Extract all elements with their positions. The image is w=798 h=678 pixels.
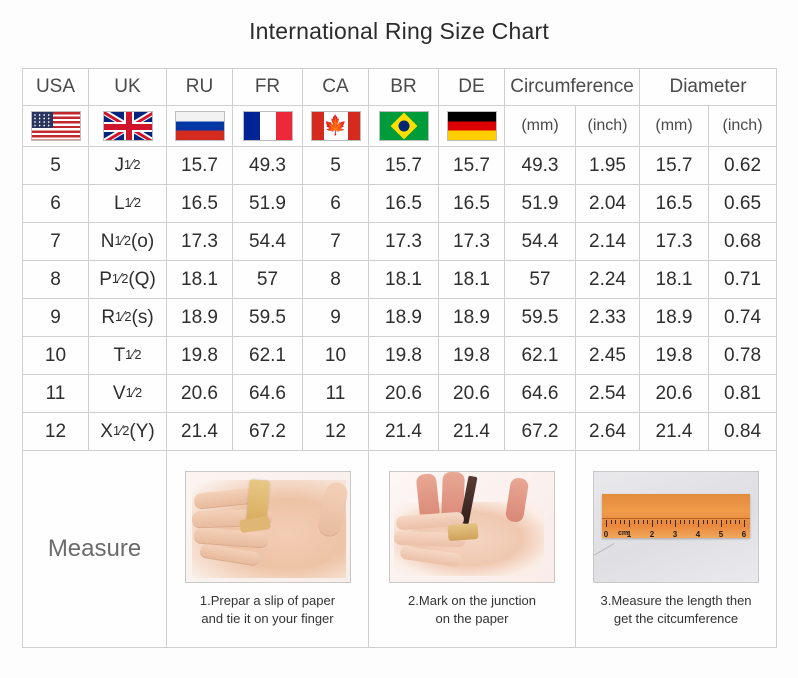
ruler-tick — [721, 520, 722, 527]
table-row: 12X1⁄2(Y)21.467.21221.421.467.22.6421.40… — [23, 413, 777, 451]
uk-fraction: 1⁄2 — [113, 423, 129, 439]
uk-letter: P — [99, 269, 112, 290]
cell-circ_mm: 49.3 — [505, 147, 576, 185]
ru-flag-icon — [175, 111, 225, 141]
cell-usa: 6 — [23, 185, 89, 223]
cell-circ_mm: 51.9 — [505, 185, 576, 223]
flag-cell-br — [369, 106, 439, 147]
cell-fr: 54.4 — [233, 223, 303, 261]
cell-dia_in: 0.81 — [709, 375, 777, 413]
flag-cell-fr — [233, 106, 303, 147]
uk-letter: J — [115, 155, 125, 176]
cell-uk: X1⁄2(Y) — [89, 413, 167, 451]
uk-fraction: 1⁄2 — [115, 233, 131, 249]
uk-letter: L — [114, 193, 125, 214]
uk-letter: N — [101, 231, 115, 252]
ruler-tick-minor — [680, 520, 681, 524]
cell-dia_in: 0.68 — [709, 223, 777, 261]
uk-suffix: (o) — [131, 231, 154, 252]
cell-br: 19.8 — [369, 337, 439, 375]
cell-ru: 20.6 — [167, 375, 233, 413]
uk-suffix: (s) — [132, 307, 154, 328]
cell-circ_in: 2.54 — [576, 375, 640, 413]
cell-dia_mm: 19.8 — [640, 337, 709, 375]
col-header-fr: FR — [233, 69, 303, 106]
cell-ca: 6 — [303, 185, 369, 223]
cell-fr: 49.3 — [233, 147, 303, 185]
page-title: International Ring Size Chart — [0, 18, 798, 45]
flag-cell-uk — [89, 106, 167, 147]
cell-fr: 64.6 — [233, 375, 303, 413]
ruler-tick — [629, 520, 630, 527]
col-header-de: DE — [439, 69, 505, 106]
cell-ca: 8 — [303, 261, 369, 299]
ruler-tick-label: 5 — [719, 530, 723, 539]
unit-header-circ-mm: (mm) — [505, 106, 576, 147]
caption-line-1: 2.Mark on the junction — [408, 592, 536, 610]
cell-de: 15.7 — [439, 147, 505, 185]
marking-junction-photo — [389, 471, 555, 583]
ruler-tick-minor — [634, 520, 635, 524]
caption-line-1: 3.Measure the length then — [600, 592, 751, 610]
table-row: 7N1⁄2(o)17.354.4717.317.354.42.1417.30.6… — [23, 223, 777, 261]
measure-label: Measure — [23, 451, 167, 648]
ruler-unit-label: cm — [618, 530, 628, 537]
ruler-tick-minor — [657, 520, 658, 524]
ruler-tick-minor — [643, 520, 644, 524]
header-row-codes: USA UK RU FR CA BR DE Circumference Diam… — [23, 69, 777, 106]
cell-usa: 12 — [23, 413, 89, 451]
ring-size-chart-page: International Ring Size Chart USA UK RU … — [0, 0, 798, 678]
flag-cell-usa — [23, 106, 89, 147]
cell-fr: 59.5 — [233, 299, 303, 337]
cell-usa: 9 — [23, 299, 89, 337]
cell-de: 17.3 — [439, 223, 505, 261]
ruler-tick — [675, 520, 676, 527]
ruler-tick-minor — [638, 520, 639, 524]
ca-flag-icon: 🍁 — [311, 111, 361, 141]
ruler-tick-minor — [661, 520, 662, 524]
cell-uk: P1⁄2(Q) — [89, 261, 167, 299]
unit-header-dia-mm: (mm) — [640, 106, 709, 147]
cell-de: 16.5 — [439, 185, 505, 223]
cell-br: 18.1 — [369, 261, 439, 299]
cell-de: 20.6 — [439, 375, 505, 413]
hand-with-paper-strip-photo — [185, 471, 351, 583]
uk-fraction: 1⁄2 — [124, 157, 140, 173]
ruler-tick-minor — [712, 520, 713, 524]
uk-fraction: 1⁄2 — [125, 347, 141, 363]
ruler-tick-minor — [684, 520, 685, 524]
cell-ru: 16.5 — [167, 185, 233, 223]
cell-usa: 8 — [23, 261, 89, 299]
us-flag-icon — [31, 111, 81, 141]
col-header-ru: RU — [167, 69, 233, 106]
cell-ca: 10 — [303, 337, 369, 375]
uk-flag-icon — [103, 111, 153, 141]
ruler-measuring-photo: 0123456 cm — [593, 471, 759, 583]
cell-ru: 19.8 — [167, 337, 233, 375]
uk-fraction: 1⁄2 — [112, 271, 128, 287]
table-row: 10T1⁄219.862.11019.819.862.12.4519.80.78 — [23, 337, 777, 375]
ruler-tick-minor — [707, 520, 708, 524]
uk-letter: V — [113, 383, 126, 404]
cell-circ_mm: 67.2 — [505, 413, 576, 451]
cell-dia_in: 0.65 — [709, 185, 777, 223]
table-row: 5J1⁄215.749.3515.715.749.31.9515.70.62 — [23, 147, 777, 185]
measure-step-3: 0123456 cm 3.Measure the length then get… — [576, 451, 777, 648]
ruler-tick — [606, 520, 607, 527]
uk-fraction: 1⁄2 — [115, 309, 131, 325]
ruler-tick-minor — [647, 520, 648, 524]
uk-letter: X — [100, 421, 113, 442]
cell-de: 21.4 — [439, 413, 505, 451]
cell-fr: 67.2 — [233, 413, 303, 451]
measure-step-3-caption: 3.Measure the length then get the citcum… — [600, 592, 751, 627]
cell-usa: 7 — [23, 223, 89, 261]
cell-br: 21.4 — [369, 413, 439, 451]
cell-br: 17.3 — [369, 223, 439, 261]
cell-dia_mm: 21.4 — [640, 413, 709, 451]
ruler-tick-minor — [615, 520, 616, 524]
cell-dia_mm: 17.3 — [640, 223, 709, 261]
col-header-ca: CA — [303, 69, 369, 106]
cell-circ_mm: 64.6 — [505, 375, 576, 413]
cell-uk: T1⁄2 — [89, 337, 167, 375]
uk-fraction: 1⁄2 — [126, 385, 142, 401]
header-row-flags: 🍁 (mm) (inch) (mm) (inch) — [23, 106, 777, 147]
cell-dia_in: 0.78 — [709, 337, 777, 375]
cell-ca: 5 — [303, 147, 369, 185]
ruler-tick-minor — [739, 520, 740, 524]
cell-ru: 18.1 — [167, 261, 233, 299]
ruler-tick-label: 0 — [604, 530, 608, 539]
ruler-tick — [744, 520, 745, 527]
cell-dia_mm: 20.6 — [640, 375, 709, 413]
cell-circ_mm: 57 — [505, 261, 576, 299]
col-header-diameter: Diameter — [640, 69, 777, 106]
ring-size-table: USA UK RU FR CA BR DE Circumference Diam… — [22, 68, 777, 648]
cell-br: 15.7 — [369, 147, 439, 185]
measure-step-1: 1.Prepar a slip of paper and tie it on y… — [167, 451, 369, 648]
cell-usa: 10 — [23, 337, 89, 375]
ruler-tick-label: 3 — [673, 530, 677, 539]
ruler-tick-minor — [666, 520, 667, 524]
table-row: 6L1⁄216.551.9616.516.551.92.0416.50.65 — [23, 185, 777, 223]
cell-uk: V1⁄2 — [89, 375, 167, 413]
cell-ru: 15.7 — [167, 147, 233, 185]
ruler-tick-minor — [620, 520, 621, 524]
ruler-tick-minor — [703, 520, 704, 524]
cell-uk: J1⁄2 — [89, 147, 167, 185]
caption-line-2: and tie it on your finger — [200, 610, 335, 628]
cell-de: 19.8 — [439, 337, 505, 375]
cell-circ_in: 2.45 — [576, 337, 640, 375]
cell-fr: 62.1 — [233, 337, 303, 375]
ruler-tick — [652, 520, 653, 527]
col-header-br: BR — [369, 69, 439, 106]
cell-ru: 21.4 — [167, 413, 233, 451]
cell-uk: L1⁄2 — [89, 185, 167, 223]
flag-cell-ca: 🍁 — [303, 106, 369, 147]
cell-br: 20.6 — [369, 375, 439, 413]
cell-circ_in: 2.24 — [576, 261, 640, 299]
cell-dia_in: 0.74 — [709, 299, 777, 337]
ruler-tick-minor — [670, 520, 671, 524]
cell-dia_in: 0.62 — [709, 147, 777, 185]
cell-circ_mm: 59.5 — [505, 299, 576, 337]
ruler-tick-minor — [611, 520, 612, 524]
cell-circ_mm: 62.1 — [505, 337, 576, 375]
cell-uk: R1⁄2(s) — [89, 299, 167, 337]
cell-fr: 57 — [233, 261, 303, 299]
caption-line-2: get the citcumference — [600, 610, 751, 628]
table-row: 9R1⁄2(s)18.959.5918.918.959.52.3318.90.7… — [23, 299, 777, 337]
cell-ca: 11 — [303, 375, 369, 413]
cell-br: 18.9 — [369, 299, 439, 337]
cell-circ_in: 1.95 — [576, 147, 640, 185]
ruler-tick-minor — [730, 520, 731, 524]
cell-dia_mm: 16.5 — [640, 185, 709, 223]
cell-uk: N1⁄2(o) — [89, 223, 167, 261]
table-row: 11V1⁄220.664.61120.620.664.62.5420.60.81 — [23, 375, 777, 413]
ruler-tick-minor — [735, 520, 736, 524]
ruler-tick-label: 2 — [650, 530, 654, 539]
cell-ca: 12 — [303, 413, 369, 451]
ruler-tick-label: 6 — [742, 530, 746, 539]
caption-line-1: 1.Prepar a slip of paper — [200, 592, 335, 610]
measure-row: Measure 1.Prepar a slip of paper and — [23, 451, 777, 648]
cell-dia_mm: 18.9 — [640, 299, 709, 337]
table-body: 5J1⁄215.749.3515.715.749.31.9515.70.626L… — [23, 147, 777, 451]
de-flag-icon — [447, 111, 497, 141]
cell-circ_in: 2.33 — [576, 299, 640, 337]
cell-dia_in: 0.71 — [709, 261, 777, 299]
cell-de: 18.1 — [439, 261, 505, 299]
ruler-tick-minor — [624, 520, 625, 524]
cell-ru: 18.9 — [167, 299, 233, 337]
cell-circ_in: 2.04 — [576, 185, 640, 223]
ruler-tick — [698, 520, 699, 527]
br-flag-icon — [379, 111, 429, 141]
uk-letter: R — [101, 307, 115, 328]
flag-cell-de — [439, 106, 505, 147]
cell-usa: 5 — [23, 147, 89, 185]
cell-usa: 11 — [23, 375, 89, 413]
uk-fraction: 1⁄2 — [125, 195, 141, 211]
uk-suffix: (Q) — [128, 269, 155, 290]
cell-circ_mm: 54.4 — [505, 223, 576, 261]
uk-letter: T — [113, 345, 125, 366]
uk-suffix: (Y) — [129, 421, 154, 442]
cell-ca: 9 — [303, 299, 369, 337]
unit-header-dia-inch: (inch) — [709, 106, 777, 147]
cell-ru: 17.3 — [167, 223, 233, 261]
cell-dia_in: 0.84 — [709, 413, 777, 451]
ruler-tick-minor — [693, 520, 694, 524]
ruler-tick-label: 4 — [696, 530, 700, 539]
measure-step-1-caption: 1.Prepar a slip of paper and tie it on y… — [200, 592, 335, 627]
cell-fr: 51.9 — [233, 185, 303, 223]
fr-flag-icon — [243, 111, 293, 141]
ruler-tick-minor — [716, 520, 717, 524]
measure-step-2-caption: 2.Mark on the junction on the paper — [408, 592, 536, 627]
ruler-tick-minor — [689, 520, 690, 524]
cell-dia_mm: 18.1 — [640, 261, 709, 299]
col-header-uk: UK — [89, 69, 167, 106]
cell-dia_mm: 15.7 — [640, 147, 709, 185]
table-row: 8P1⁄2(Q)18.157818.118.1572.2418.10.71 — [23, 261, 777, 299]
unit-header-circ-inch: (inch) — [576, 106, 640, 147]
flag-cell-ru — [167, 106, 233, 147]
cell-circ_in: 2.64 — [576, 413, 640, 451]
ruler-tick-minor — [726, 520, 727, 524]
col-header-usa: USA — [23, 69, 89, 106]
cell-br: 16.5 — [369, 185, 439, 223]
cell-de: 18.9 — [439, 299, 505, 337]
col-header-circumference: Circumference — [505, 69, 640, 106]
cell-circ_in: 2.14 — [576, 223, 640, 261]
caption-line-2: on the paper — [408, 610, 536, 628]
measure-step-2: 2.Mark on the junction on the paper — [369, 451, 576, 648]
cell-ca: 7 — [303, 223, 369, 261]
